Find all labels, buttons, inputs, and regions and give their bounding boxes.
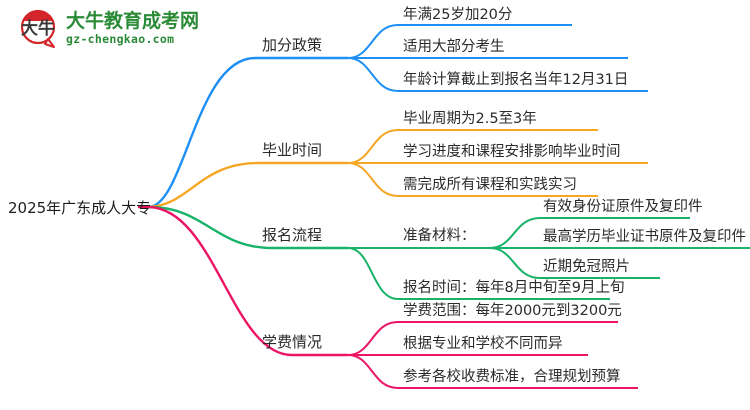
child-node-b1-c1[interactable]: 年满25岁加20分: [403, 3, 512, 24]
child-node-b2-c3[interactable]: 需完成所有课程和实践实习: [403, 173, 577, 194]
logo-title: 大牛教育成考网: [66, 12, 199, 31]
mindmap-root-node[interactable]: 2025年广东成人大专: [8, 197, 151, 218]
branch-node-baomingliucheng[interactable]: 报名流程: [262, 224, 322, 245]
branch-node-xuefeiqingkuang[interactable]: 学费情况: [262, 331, 322, 352]
grandchild-node-b3-c1-g3[interactable]: 近期免冠照片: [543, 255, 630, 276]
child-node-b4-c1[interactable]: 学费范围：每年2000元到3200元: [403, 299, 622, 320]
grandchild-node-b3-c1-g2[interactable]: 最高学历毕业证书原件及复印件: [543, 225, 746, 246]
site-logo: 大牛 大牛教育成考网 gz-chengkao.com: [18, 8, 199, 50]
da-niu-speech-bubble-logo: 大牛: [18, 8, 60, 50]
grandchild-node-b3-c1-g1[interactable]: 有效身份证原件及复印件: [543, 195, 703, 216]
child-node-b2-c1[interactable]: 毕业周期为2.5至3年: [403, 107, 537, 128]
child-node-b2-c2[interactable]: 学习进度和课程安排影响毕业时间: [403, 140, 621, 161]
branch1-trunk: [149, 58, 348, 207]
svg-text:大牛: 大牛: [21, 18, 55, 39]
child-node-b1-c2[interactable]: 适用大部分考生: [403, 35, 505, 56]
logo-subtitle: gz-chengkao.com: [66, 34, 199, 46]
child-node-b3-c1[interactable]: 准备材料：: [403, 224, 476, 245]
branch-node-jiafenzhengce[interactable]: 加分政策: [262, 34, 322, 55]
child-node-b1-c3[interactable]: 年龄计算截止到报名当年12月31日: [403, 68, 628, 89]
branch-node-biyeshijian[interactable]: 毕业时间: [262, 139, 322, 160]
child-node-b4-c2[interactable]: 根据专业和学校不同而异: [403, 332, 563, 353]
child-node-b4-c3[interactable]: 参考各校收费标准，合理规划预算: [403, 365, 621, 386]
child-node-b3-c2[interactable]: 报名时间：每年8月中旬至9月上旬: [403, 276, 624, 297]
